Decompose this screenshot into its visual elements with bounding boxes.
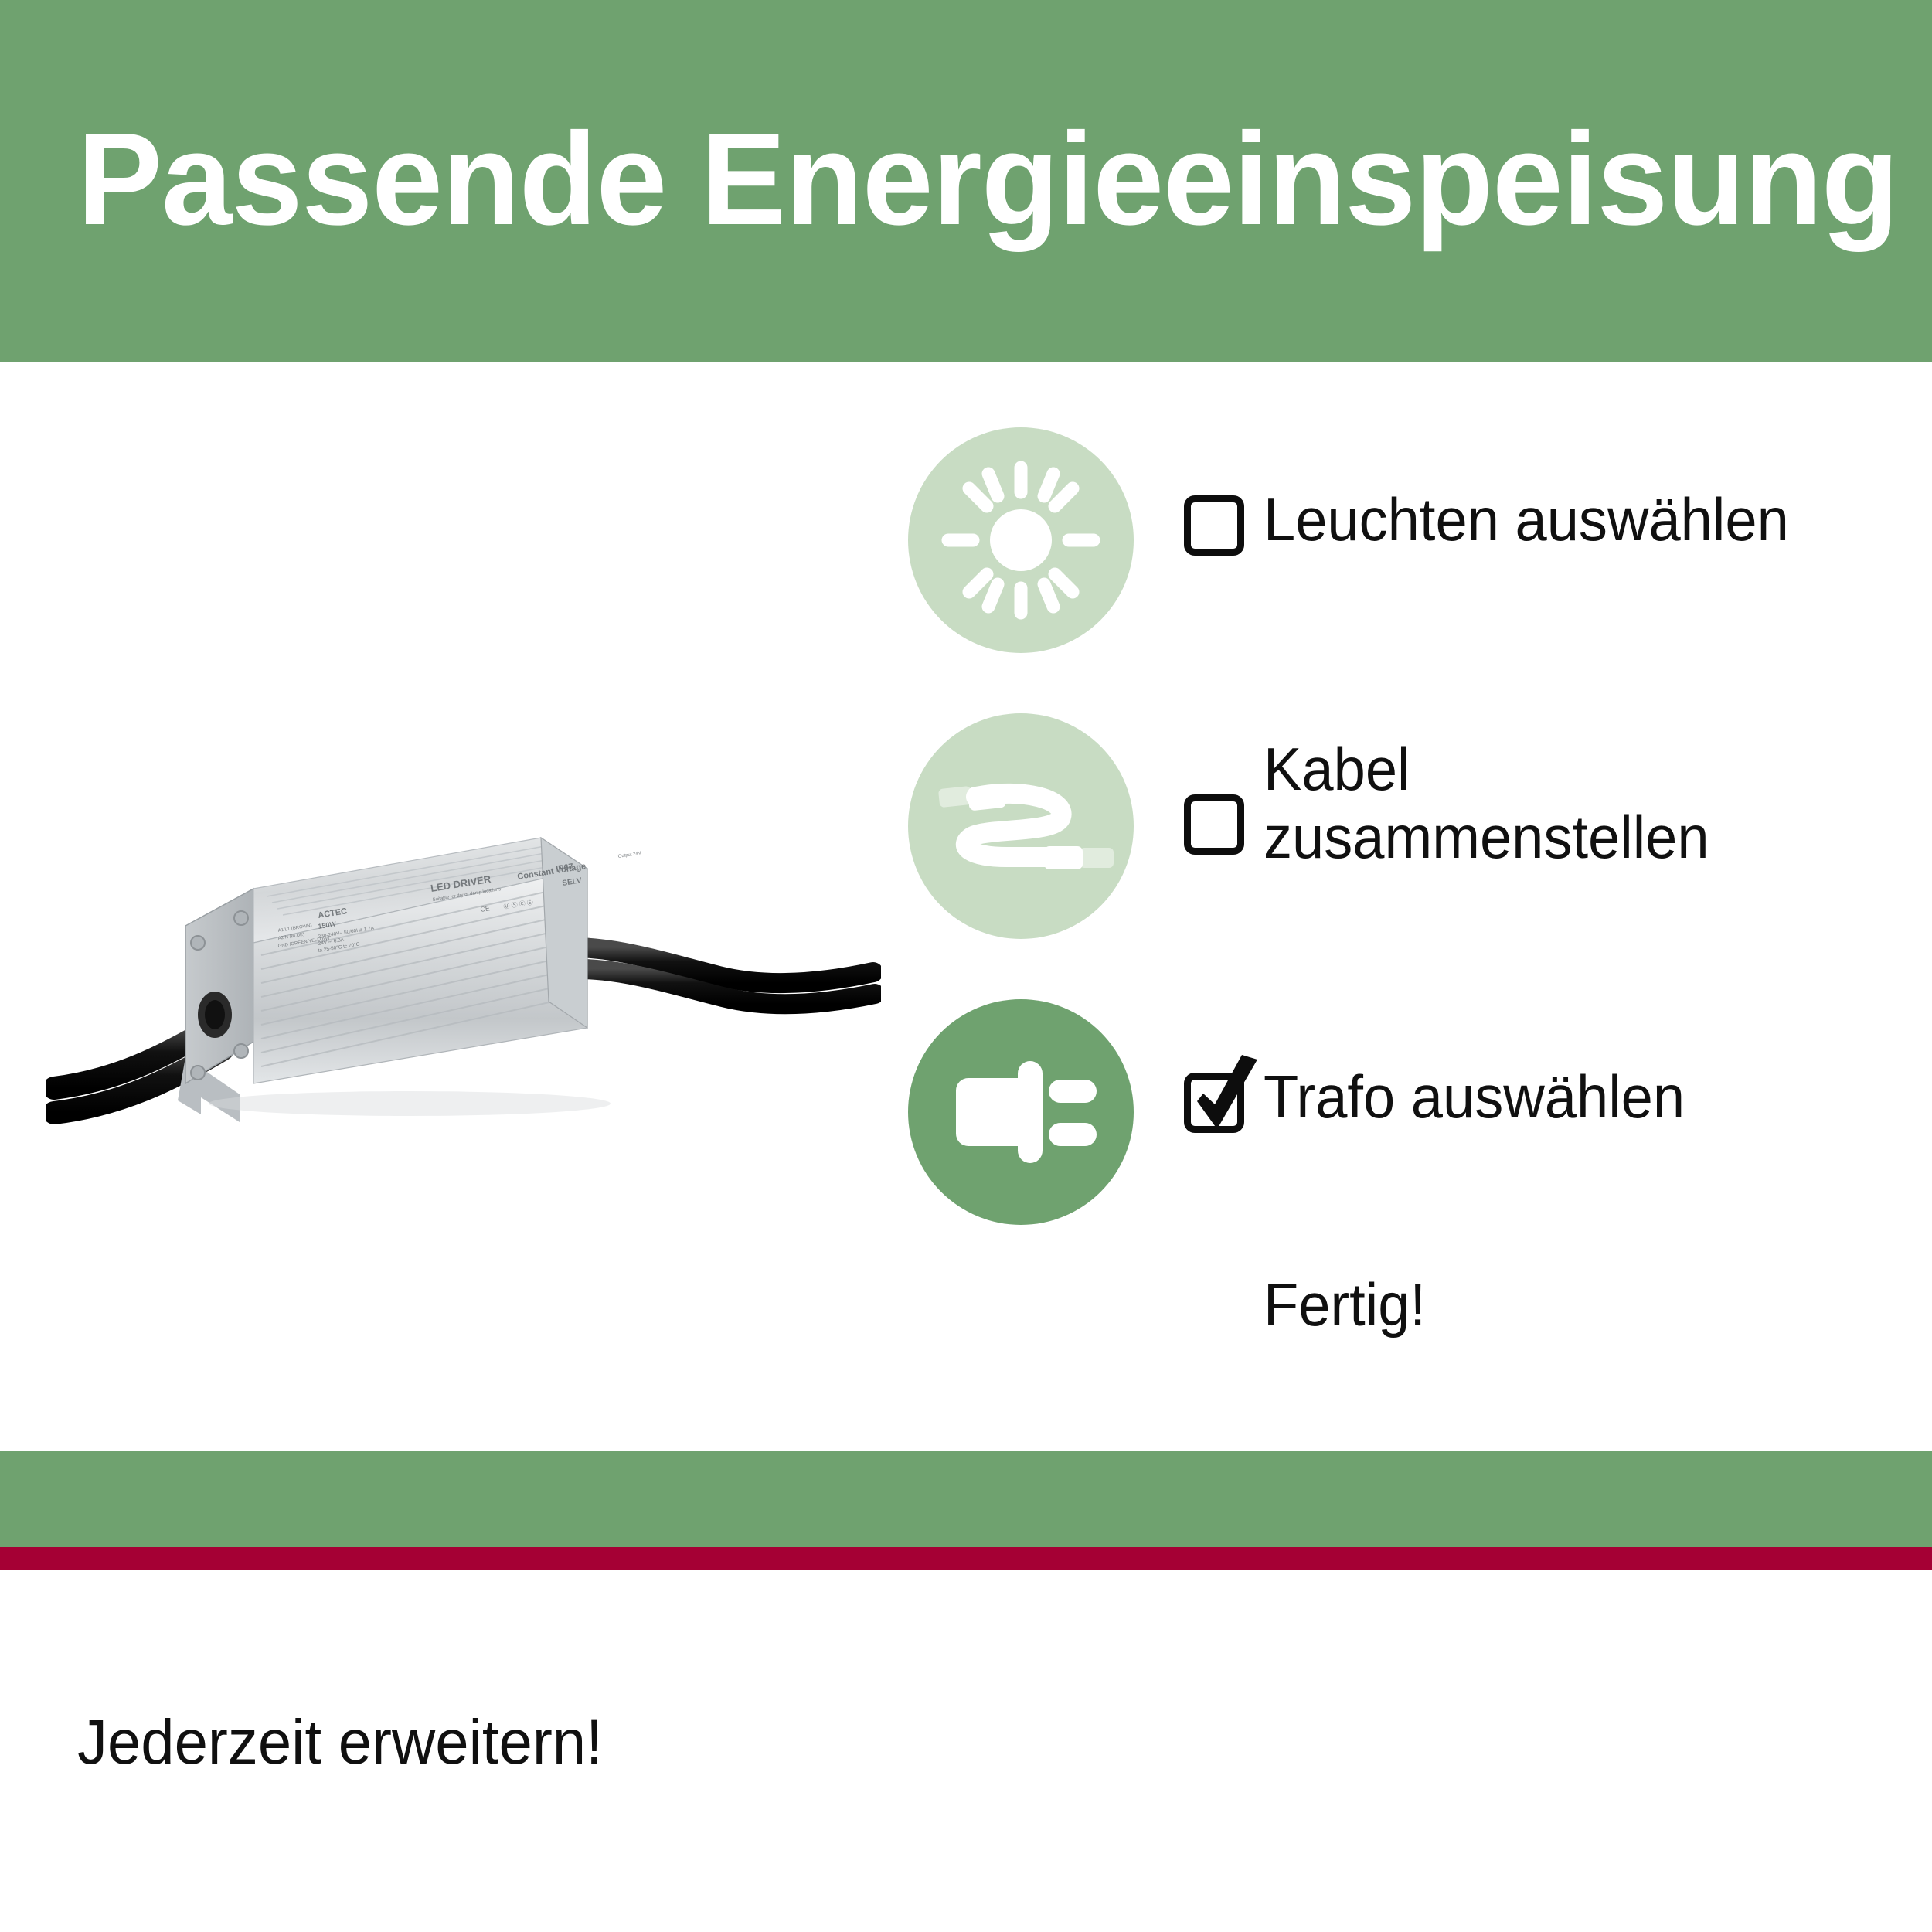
checkbox-kabel[interactable]	[1184, 794, 1244, 855]
main-content: ACTEC 150W 230-240V~ 50/60Hz 1.7A 24V ⎓ …	[0, 362, 1932, 1451]
product-image-led-driver: ACTEC 150W 230-240V~ 50/60Hz 1.7A 24V ⎓ …	[46, 825, 881, 1150]
page-title: Passende Energieeinspeisung	[77, 111, 1899, 249]
step-label-kabel: Kabel zusammenstellen	[1264, 735, 1709, 871]
footer-green-band	[0, 1451, 1932, 1547]
cable-icon	[908, 713, 1134, 939]
step-label-leuchten: Leuchten auswählen	[1264, 485, 1789, 553]
step-label-kabel-line1: Kabel	[1264, 735, 1410, 803]
footer-red-band	[0, 1547, 1932, 1570]
plug-icon	[908, 999, 1134, 1225]
step-row-leuchten[interactable]: Leuchten auswählen	[908, 427, 1905, 713]
checkmark-icon	[1180, 1053, 1271, 1145]
checkbox-trafo[interactable]	[1184, 1073, 1244, 1133]
step-row-trafo[interactable]: Trafo auswählen	[908, 999, 1905, 1285]
steps-list: Leuchten auswählen Kabel zusammenstellen	[908, 427, 1905, 1285]
footer-note: Jederzeit erweitern!	[77, 1706, 603, 1779]
svg-text:CE: CE	[480, 904, 491, 913]
step-label-kabel-line2: zusammenstellen	[1264, 803, 1709, 871]
sun-icon	[908, 427, 1134, 653]
step-row-kabel[interactable]: Kabel zusammenstellen	[908, 713, 1905, 999]
checkbox-leuchten[interactable]	[1184, 495, 1244, 556]
done-text: Fertig!	[1264, 1270, 1426, 1340]
header-band: Passende Energieeinspeisung	[0, 0, 1932, 362]
svg-text:Output 24V: Output 24V	[617, 851, 641, 859]
step-label-trafo: Trafo auswählen	[1264, 1063, 1685, 1131]
